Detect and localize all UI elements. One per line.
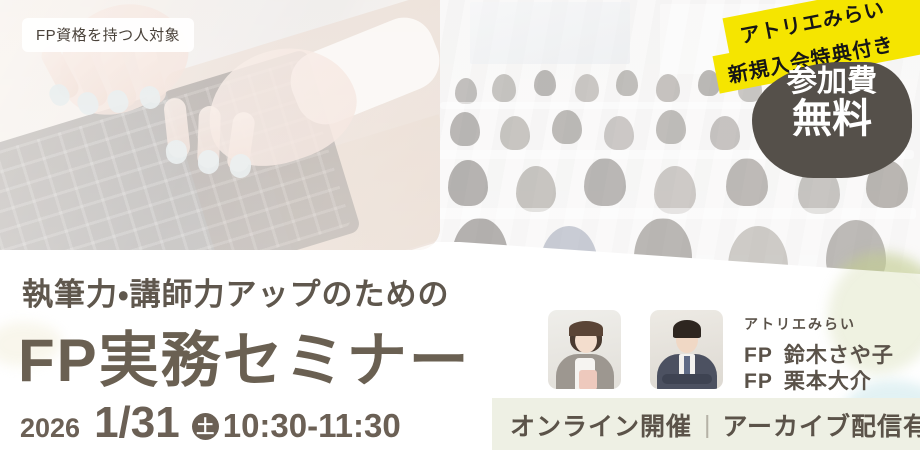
speaker-role: FP <box>744 370 773 393</box>
crossed-arms <box>662 374 712 384</box>
format-mode: オンライン開催 <box>510 407 692 443</box>
format-banner: オンライン開催 | アーカイブ配信有 <box>492 398 920 450</box>
notebook-prop <box>579 370 597 389</box>
seminar-banner: FP資格を持つ人対象 アトリエみらい 新規入会特典付き 参加費 無料 執筆力・講… <box>0 0 920 450</box>
schedule-time: 10:30-11:30 <box>223 407 401 445</box>
speaker-role: FP <box>744 344 773 367</box>
format-archive: アーカイブ配信有 <box>723 407 920 443</box>
seminar-title: FP実務セミナー <box>18 312 471 399</box>
schedule-date: 1/31 <box>94 398 180 448</box>
format-separator: | <box>704 411 711 440</box>
free-badge-line2: 無料 <box>752 98 912 140</box>
schedule-day-of-week-badge: 土 <box>192 413 219 440</box>
speaker-name: 栗本大介 <box>784 370 872 393</box>
speaker-photo-kurimoto <box>650 310 723 389</box>
schedule-row: 2026 1/31 土 10:30-11:30 <box>20 398 401 448</box>
speaker-row: FP栗本大介 <box>744 369 894 395</box>
projection-screen <box>470 2 630 64</box>
audience-tag: FP資格を持つ人対象 <box>22 18 194 52</box>
speaker-photo-suzuki <box>548 310 621 389</box>
free-badge: 参加費 無料 <box>752 66 912 140</box>
free-badge-line1: 参加費 <box>752 66 912 98</box>
speaker-name: 鈴木さや子 <box>784 344 894 367</box>
schedule-year: 2026 <box>20 413 80 444</box>
seminar-subtitle: 執筆力・講師力アップのための <box>22 269 450 314</box>
speaker-organization: アトリエみらい <box>744 314 894 334</box>
speaker-credits: アトリエみらい FP鈴木さや子 FP栗本大介 <box>744 314 894 396</box>
speaker-row: FP鈴木さや子 <box>744 343 894 369</box>
